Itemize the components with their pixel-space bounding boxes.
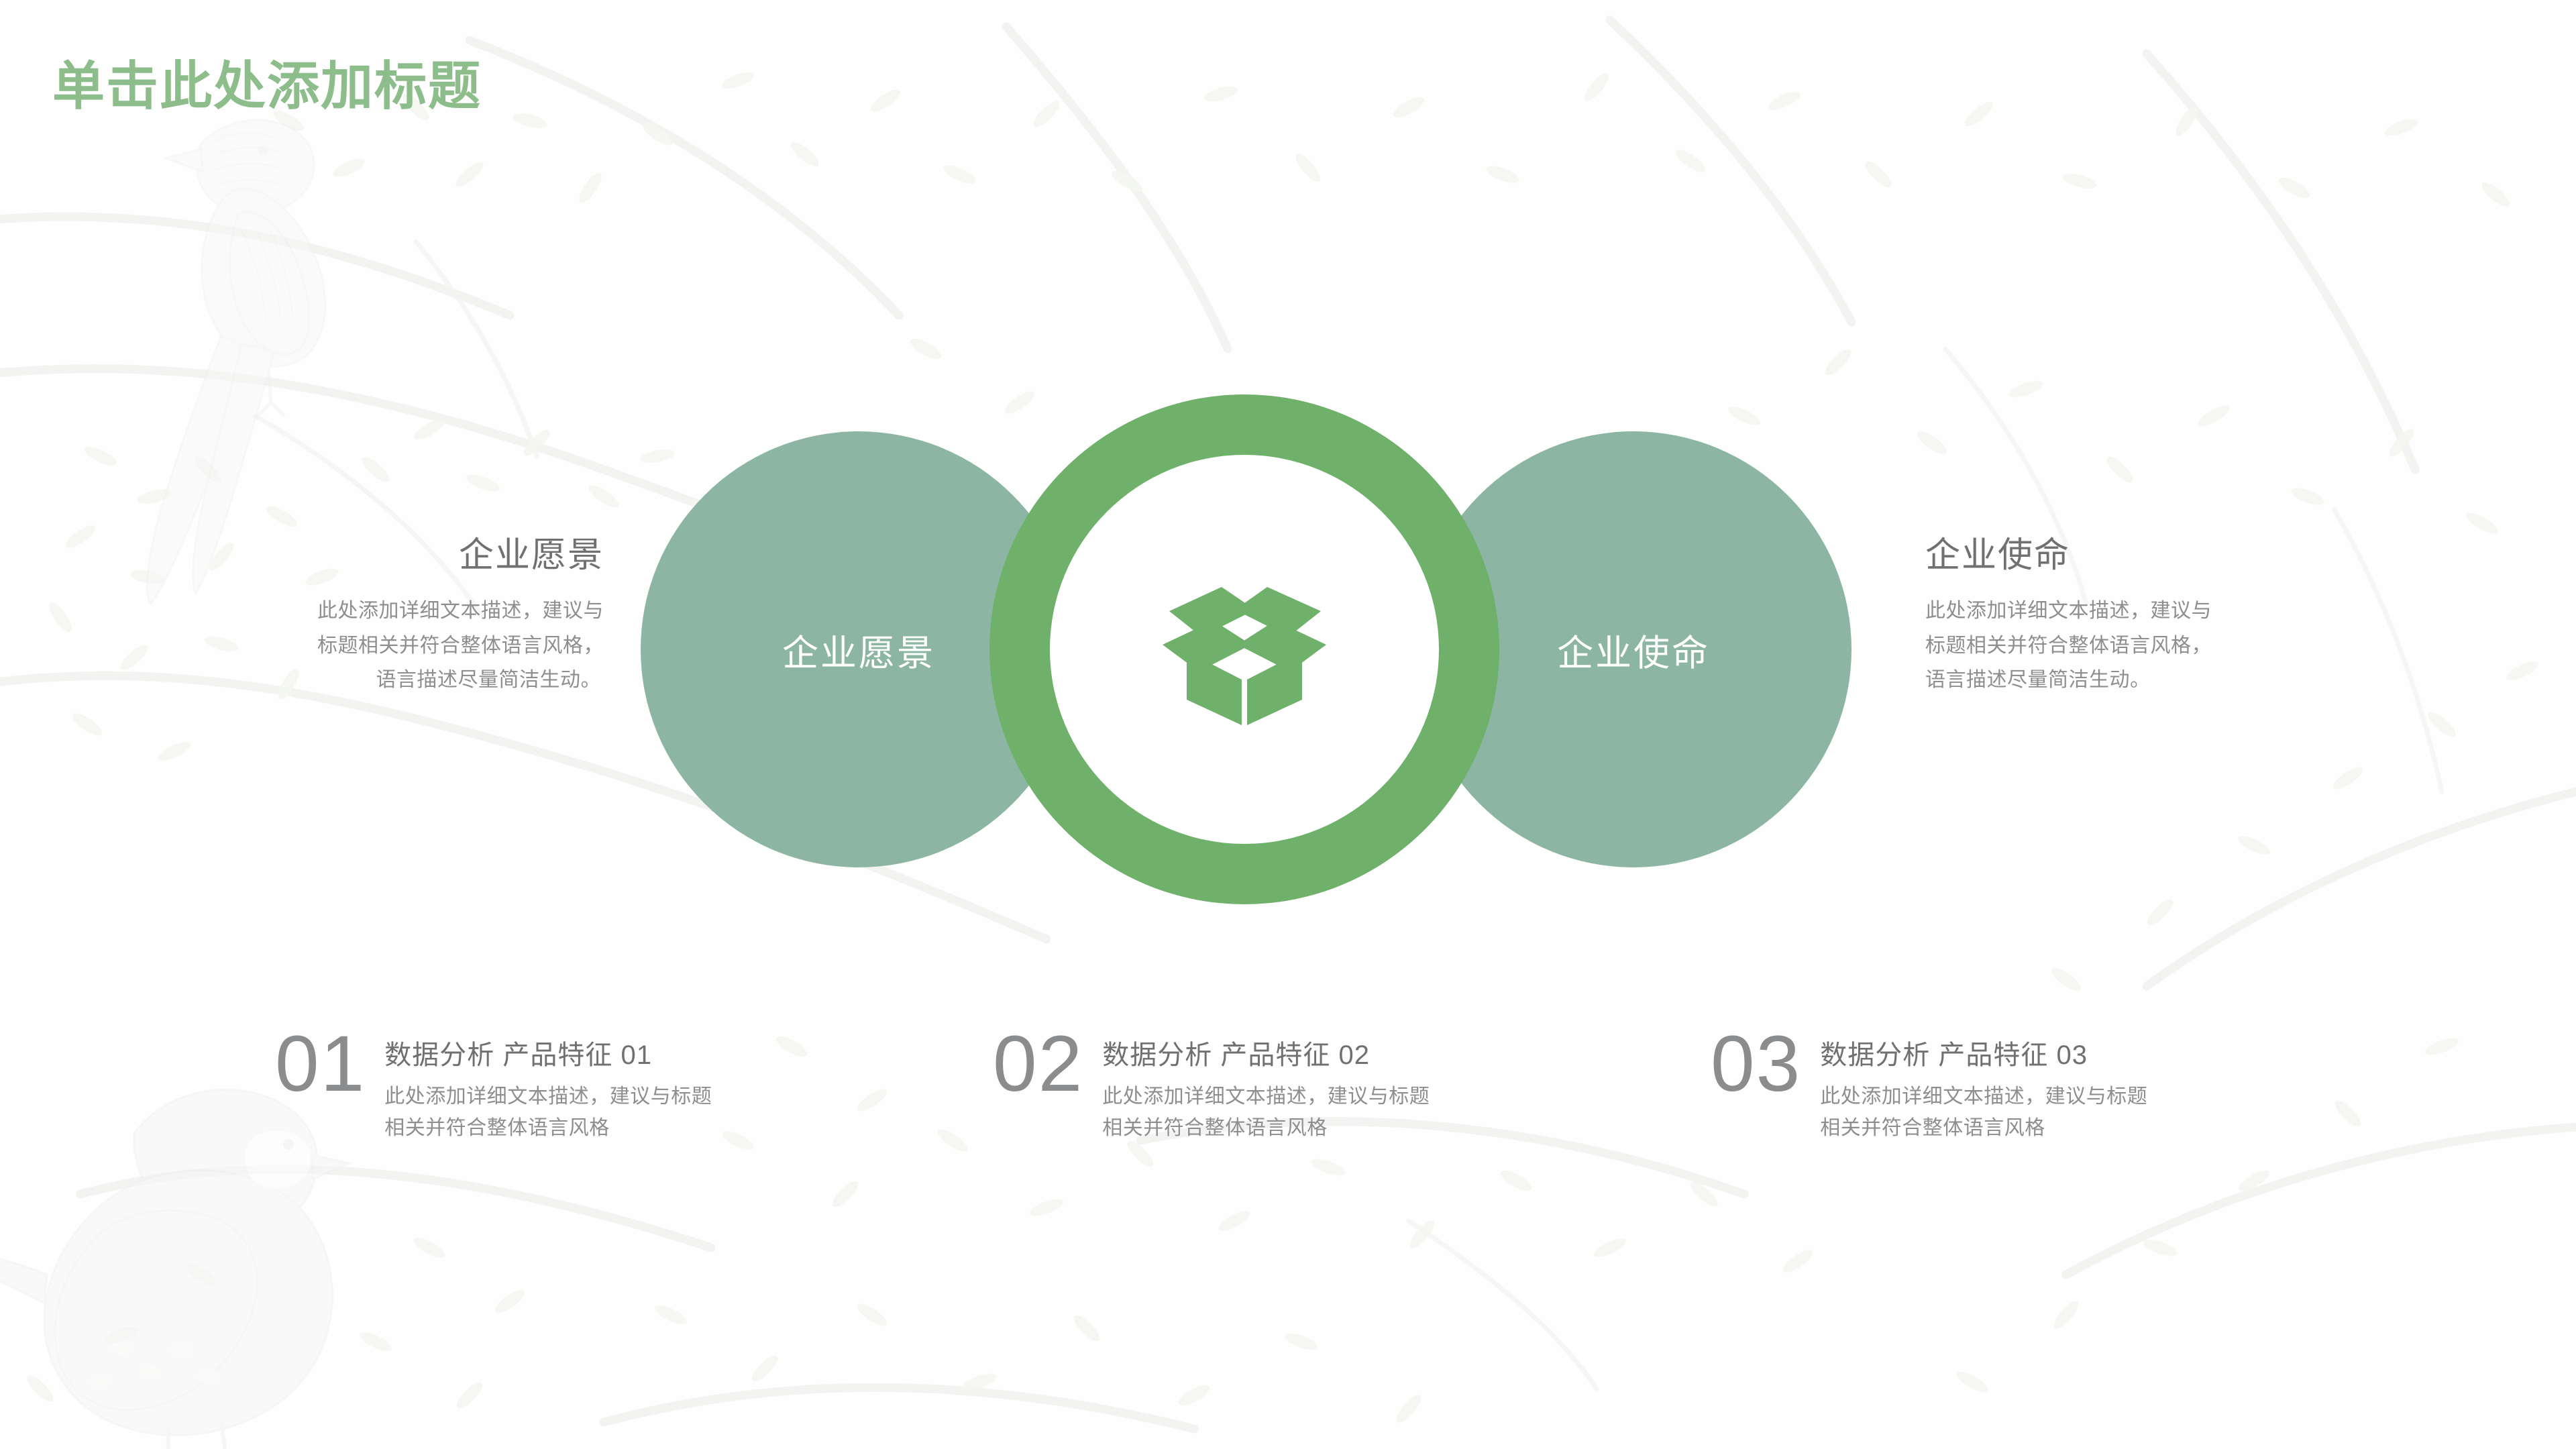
mission-body: 此处添加详细文本描述，建议与 标题相关并符合整体语言风格， 语言描述尽量简洁生动… [1925, 594, 2328, 698]
circle-diagram: 企业愿景 企业使命 [0, 0, 2576, 1449]
vision-body-line-2: 标题相关并符合整体语言风格， [201, 629, 604, 663]
feature-title-02: 数据分析 产品特征 02 [1102, 1033, 1430, 1072]
feature-body-02-line-2: 相关并符合整体语言风格 [1102, 1113, 1430, 1144]
feature-body-03-line-1: 此处添加详细文本描述，建议与标题 [1820, 1081, 2147, 1113]
side-block-mission: 企业使命 此处添加详细文本描述，建议与 标题相关并符合整体语言风格， 语言描述尽… [1925, 537, 2328, 698]
feature-text-02: 数据分析 产品特征 02 此处添加详细文本描述，建议与标题 相关并符合整体语言风… [1102, 1026, 1430, 1144]
circle-mission-label: 企业使命 [1557, 623, 1710, 676]
vision-body-line-1: 此处添加详细文本描述，建议与 [201, 594, 604, 629]
open-box-icon [1157, 572, 1332, 727]
vision-heading: 企业愿景 [201, 537, 604, 575]
feature-text-01: 数据分析 产品特征 01 此处添加详细文本描述，建议与标题 相关并符合整体语言风… [384, 1026, 712, 1144]
side-block-vision: 企业愿景 此处添加详细文本描述，建议与 标题相关并符合整体语言风格， 语言描述尽… [201, 537, 604, 698]
mission-heading: 企业使命 [1925, 537, 2328, 575]
feature-number-02: 02 [993, 1026, 1083, 1102]
feature-title-03: 数据分析 产品特征 03 [1820, 1033, 2147, 1072]
feature-item-03[interactable]: 03 数据分析 产品特征 03 此处添加详细文本描述，建议与标题 相关并符合整体… [1711, 1026, 2147, 1144]
feature-number-01: 01 [275, 1026, 366, 1102]
feature-item-01[interactable]: 01 数据分析 产品特征 01 此处添加详细文本描述，建议与标题 相关并符合整体… [275, 1026, 712, 1144]
center-ring-hole [1050, 455, 1439, 844]
feature-body-01-line-2: 相关并符合整体语言风格 [384, 1113, 712, 1144]
feature-body-03-line-2: 相关并符合整体语言风格 [1820, 1113, 2147, 1144]
feature-body-01-line-1: 此处添加详细文本描述，建议与标题 [384, 1081, 712, 1113]
feature-item-02[interactable]: 02 数据分析 产品特征 02 此处添加详细文本描述，建议与标题 相关并符合整体… [993, 1026, 1430, 1144]
mission-body-line-3: 语言描述尽量简洁生动。 [1925, 663, 2328, 698]
vision-body: 此处添加详细文本描述，建议与 标题相关并符合整体语言风格， 语言描述尽量简洁生动… [201, 594, 604, 698]
page-title: 单击此处添加标题 [52, 44, 482, 119]
feature-body-03: 此处添加详细文本描述，建议与标题 相关并符合整体语言风格 [1820, 1081, 2147, 1144]
vision-body-line-3: 语言描述尽量简洁生动。 [201, 663, 604, 698]
feature-items-row: 01 数据分析 产品特征 01 此处添加详细文本描述，建议与标题 相关并符合整体… [0, 1026, 2576, 1201]
feature-body-02-line-1: 此处添加详细文本描述，建议与标题 [1102, 1081, 1430, 1113]
slide-canvas: 单击此处添加标题 企业愿景 企业使命 [0, 0, 2576, 1449]
circle-vision-label: 企业愿景 [782, 623, 935, 676]
feature-title-01: 数据分析 产品特征 01 [384, 1033, 712, 1072]
mission-body-line-2: 标题相关并符合整体语言风格， [1925, 629, 2328, 663]
feature-text-03: 数据分析 产品特征 03 此处添加详细文本描述，建议与标题 相关并符合整体语言风… [1820, 1026, 2147, 1144]
center-ring[interactable] [989, 394, 1499, 904]
feature-body-01: 此处添加详细文本描述，建议与标题 相关并符合整体语言风格 [384, 1081, 712, 1144]
feature-number-03: 03 [1711, 1026, 1801, 1102]
feature-body-02: 此处添加详细文本描述，建议与标题 相关并符合整体语言风格 [1102, 1081, 1430, 1144]
mission-body-line-1: 此处添加详细文本描述，建议与 [1925, 594, 2328, 629]
